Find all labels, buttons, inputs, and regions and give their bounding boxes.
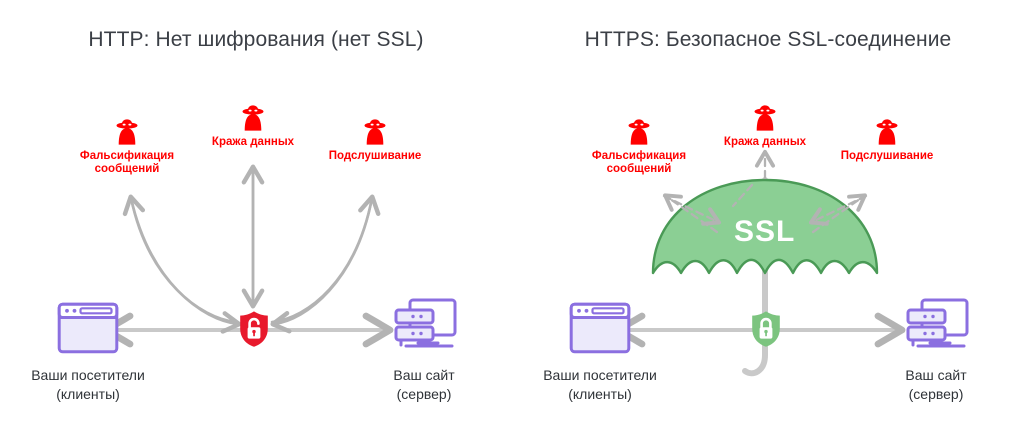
server-label-https-line2: (сервер) [909,386,964,402]
http-arrow-to-eavesdrop [272,198,372,322]
server-label-http-line2: (сервер) [397,386,452,402]
server-monitor-icon [392,298,458,361]
panel-http: HTTP: Нет шифрования (нет SSL) [0,0,512,424]
panel-https: HTTPS: Безопасное SSL-соединение [512,0,1024,424]
client-label-http-line1: Ваши посетители [31,367,145,383]
client-label-http: Ваши посетители (клиенты) [0,366,188,404]
threat-tamper-https-line1: Фальсификация [559,150,719,163]
server-label-http-line1: Ваш сайт [393,367,454,383]
client-label-https: Ваши посетители (клиенты) [500,366,700,404]
server-monitor-icon [904,298,970,361]
threat-tamper-https-line2: сообщений [559,163,719,176]
http-arrow-from-tamper [131,198,238,324]
locked-shield-icon [750,310,782,353]
client-label-http-line2: (клиенты) [56,386,120,402]
unlocked-shield-icon [238,310,270,353]
http-arrow-to-tamper [131,198,236,322]
server-label-https-line1: Ваш сайт [905,367,966,383]
threat-eavesdrop-http: Подслушивание [295,118,455,163]
thief-icon [807,118,967,148]
threat-eavesdrop-http-line1: Подслушивание [295,150,455,163]
thief-icon [295,118,455,148]
threat-tamper-http-line1: Фальсификация [47,150,207,163]
browser-window-icon [57,302,119,359]
threat-tamper-http-line2: сообщений [47,163,207,176]
browser-window-icon [569,302,631,359]
umbrella-ssl-label: SSL [734,215,795,249]
threat-eavesdrop-https: Подслушивание [807,118,967,163]
server-label-http: Ваш сайт (сервер) [324,366,524,404]
client-label-https-line1: Ваши посетители [543,367,657,383]
threat-eavesdrop-https-line1: Подслушивание [807,150,967,163]
server-label-https: Ваш сайт (сервер) [836,366,1024,404]
http-arrow-from-eavesdrop [274,198,372,324]
client-label-https-line2: (клиенты) [568,386,632,402]
diagram-stage: HTTP: Нет шифрования (нет SSL) [0,0,1024,424]
